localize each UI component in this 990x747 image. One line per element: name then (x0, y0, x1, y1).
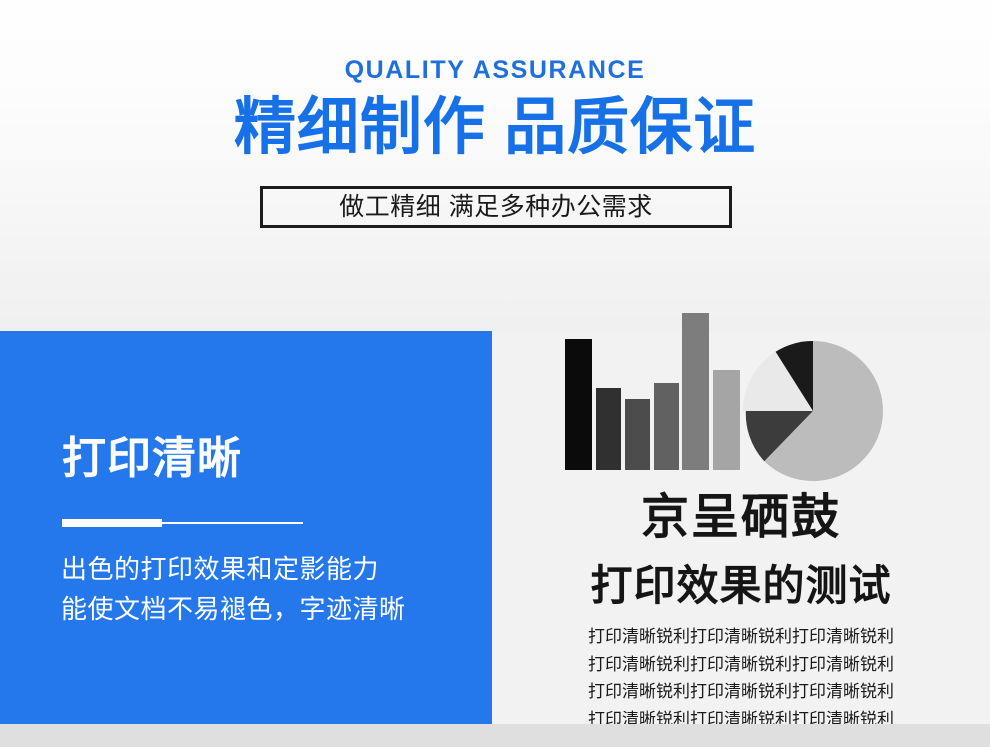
bar-chart-bar (654, 383, 679, 470)
bar-chart-bar (565, 339, 592, 470)
bar-chart-bar (625, 399, 650, 470)
feature-panel-description-line: 出色的打印效果和定影能力 (61, 549, 481, 589)
hero-tagline-box: 做工精细 满足多种办公需求 (260, 186, 732, 228)
feature-panel-heading: 打印清晰 (62, 437, 242, 481)
hero-tagline-text: 做工精细 满足多种办公需求 (339, 195, 652, 220)
promo-banner-page: QUALITY ASSURANCE 精细制作 品质保证 做工精细 满足多种办公需… (0, 0, 990, 747)
page-title: 精细制作 品质保证 (0, 95, 990, 160)
bar-chart-bar (713, 370, 740, 470)
bottom-band (0, 724, 990, 747)
feature-panel-description-line: 能使文档不易褪色，字迹清晰 (61, 589, 481, 629)
print-sample-line: 打印清晰锐利打印清晰锐利打印清晰锐利 (492, 651, 990, 679)
pie-chart-svg (742, 340, 884, 482)
divider-thin-segment (162, 522, 303, 524)
print-test-subtitle: 打印效果的测试 (492, 565, 990, 607)
print-sample-text-block: 打印清晰锐利打印清晰锐利打印清晰锐利 打印清晰锐利打印清晰锐利打印清晰锐利 打印… (492, 623, 990, 733)
print-sample-line: 打印清晰锐利打印清晰锐利打印清晰锐利 (492, 678, 990, 706)
feature-panel-description: 出色的打印效果和定影能力 能使文档不易褪色，字迹清晰 (61, 549, 481, 630)
bar-chart-bar (682, 313, 709, 470)
hero-eyebrow-text: QUALITY ASSURANCE (0, 58, 990, 83)
feature-panel-print-clarity: 打印清晰 出色的打印效果和定影能力 能使文档不易褪色，字迹清晰 (0, 331, 492, 724)
pie-chart (742, 340, 884, 482)
divider-thick-segment (62, 519, 162, 527)
bar-chart (565, 339, 720, 470)
print-sample-panel: 京呈硒鼓 打印效果的测试 打印清晰锐利打印清晰锐利打印清晰锐利 打印清晰锐利打印… (492, 331, 990, 724)
brand-title: 京呈硒鼓 (492, 494, 990, 542)
bar-chart-bar (596, 388, 621, 470)
hero-section: QUALITY ASSURANCE 精细制作 品质保证 做工精细 满足多种办公需… (0, 0, 990, 331)
feature-panel-divider (62, 519, 303, 527)
print-sample-line: 打印清晰锐利打印清晰锐利打印清晰锐利 (492, 623, 990, 651)
